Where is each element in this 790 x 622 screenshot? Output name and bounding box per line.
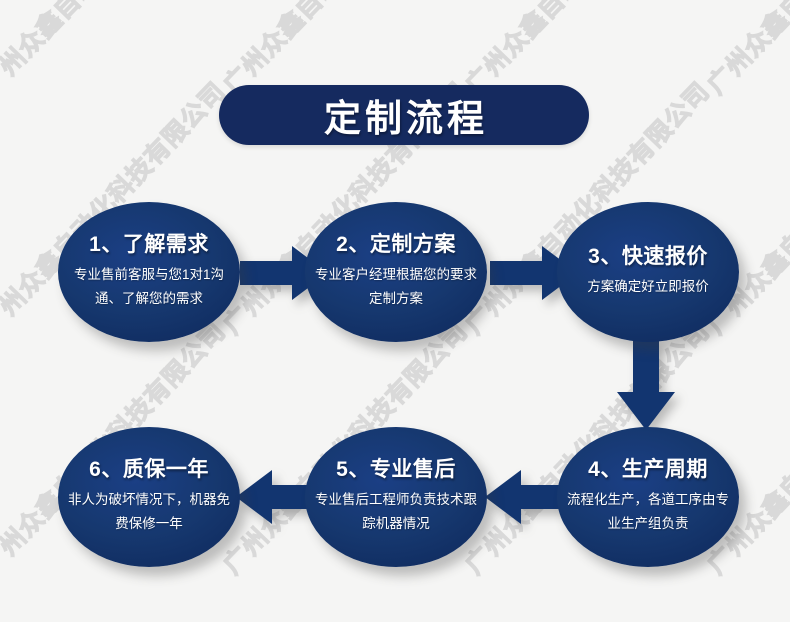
flow-step-4[interactable]: 4、生产周期 流程化生产，各道工序由专业生产组负责 [557, 427, 739, 567]
flow-step-title: 2、定制方案 [336, 233, 456, 256]
flow-step-2[interactable]: 2、定制方案 专业客户经理根据您的要求定制方案 [305, 202, 487, 342]
flow-step-description: 流程化生产，各道工序由专业生产组负责 [562, 488, 734, 535]
flow-step-description: 专业售后工程师负责技术跟踪机器情况 [310, 488, 482, 535]
flow-step-description: 方案确定好立即报价 [562, 275, 734, 299]
flow-step-6[interactable]: 6、质保一年 非人为破坏情况下，机器免费保修一年 [58, 427, 240, 567]
arrow-down-icon-step3-to-step4 [614, 340, 678, 430]
flow-step-title: 4、生产周期 [588, 458, 708, 481]
watermark-text: 广州众鑫自动化科技有限公司 [698, 0, 790, 101]
page-title: 定制流程 [219, 85, 589, 145]
watermark-text: 广州众鑫自动化科技有限公司 [0, 0, 233, 101]
flowchart-canvas: 广州众鑫自动化科技有限公司 广州众鑫自动化科技有限公司 广州众鑫自动化科技有限公… [0, 0, 790, 622]
flow-step-3[interactable]: 3、快速报价 方案确定好立即报价 [557, 202, 739, 342]
flow-step-5[interactable]: 5、专业售后 专业售后工程师负责技术跟踪机器情况 [305, 427, 487, 567]
flow-step-title: 5、专业售后 [336, 458, 456, 481]
flow-step-1[interactable]: 1、了解需求 专业售前客服与您1对1沟通、了解您的需求 [58, 202, 240, 342]
flow-step-title: 6、质保一年 [89, 458, 209, 481]
flow-step-title: 3、快速报价 [588, 245, 708, 268]
page-title-banner: 定制流程 [219, 85, 589, 145]
flow-step-title: 1、了解需求 [89, 233, 209, 256]
flow-step-description: 专业客户经理根据您的要求定制方案 [310, 263, 482, 310]
flow-step-description: 专业售前客服与您1对1沟通、了解您的需求 [63, 263, 235, 310]
flow-step-description: 非人为破坏情况下，机器免费保修一年 [63, 488, 235, 535]
